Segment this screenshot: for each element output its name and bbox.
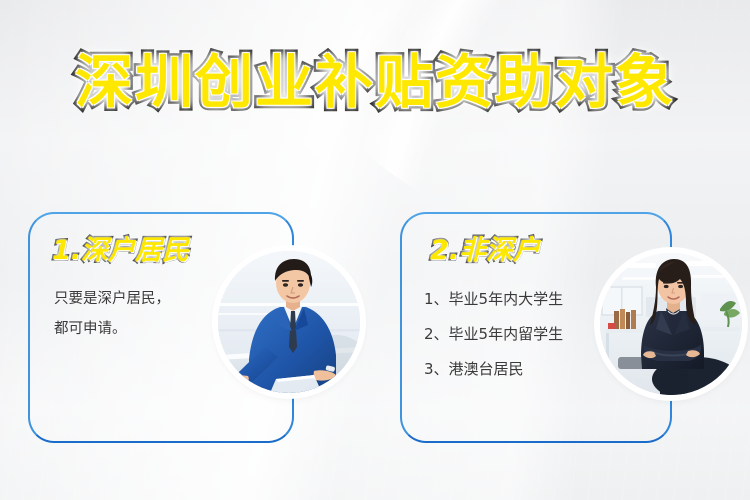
card-2-line-3: 3、港澳台居民 [424, 352, 563, 387]
poster-canvas: 深圳创业补贴资助对象 1.深户居民 只要是深户居民， 都可申请。 2.非深户 1… [0, 0, 750, 500]
page-title: 深圳创业补贴资助对象 [75, 52, 675, 113]
card-2-heading: 2.非深户 [430, 228, 540, 267]
card-2-line-2: 2、毕业5年内留学生 [424, 317, 563, 352]
businessman-photo-illustration [218, 251, 360, 393]
card-2-body: 1、毕业5年内大学生 2、毕业5年内留学生 3、港澳台居民 [424, 282, 563, 387]
businessman-handshake-photo [218, 251, 360, 393]
card-1-line-1: 只要是深户居民， [54, 284, 170, 314]
businesswoman-photo-illustration [600, 253, 742, 395]
title-area: 深圳创业补贴资助对象 [0, 52, 750, 113]
card-1-heading: 1.深户居民 [52, 228, 189, 267]
card-2-line-1: 1、毕业5年内大学生 [424, 282, 563, 317]
businesswoman-office-photo [600, 253, 742, 395]
card-1-line-2: 都可申请。 [54, 314, 170, 344]
card-1-body: 只要是深户居民， 都可申请。 [54, 284, 170, 344]
